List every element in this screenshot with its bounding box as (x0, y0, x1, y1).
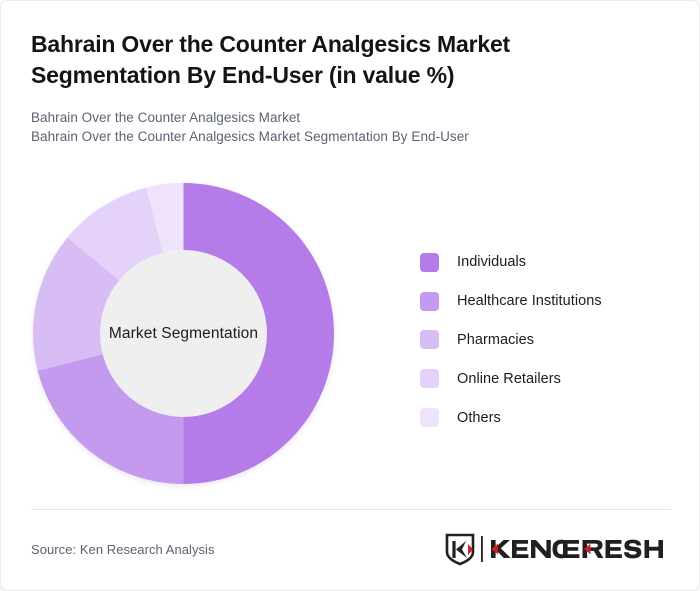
footer-divider (31, 509, 671, 510)
legend-label: Others (457, 410, 501, 426)
ken-research-logo-svg (443, 532, 671, 566)
ken-research-logo (443, 532, 671, 566)
legend-label: Online Retailers (457, 371, 561, 387)
legend-swatch-icon (420, 369, 439, 388)
legend-item[interactable]: Others (420, 398, 670, 437)
chart-area: Market Segmentation IndividualsHealthcar… (1, 171, 700, 501)
card-footer: Source: Ken Research Analysis (31, 529, 671, 569)
source-note: Source: Ken Research Analysis (31, 542, 215, 557)
shield-mark-icon (447, 535, 473, 564)
chart-legend: IndividualsHealthcare InstitutionsPharma… (420, 243, 670, 437)
logo-wordmark (491, 540, 663, 559)
legend-item[interactable]: Pharmacies (420, 321, 670, 360)
legend-item[interactable]: Online Retailers (420, 359, 670, 398)
chart-card: Bahrain Over the Counter Analgesics Mark… (0, 0, 700, 591)
subtitle-line-2: Bahrain Over the Counter Analgesics Mark… (31, 127, 669, 146)
page-title: Bahrain Over the Counter Analgesics Mark… (31, 29, 591, 91)
legend-swatch-icon (420, 408, 439, 427)
legend-label: Healthcare Institutions (457, 293, 602, 309)
donut-chart-svg (33, 183, 334, 484)
donut-chart: Market Segmentation (33, 183, 334, 484)
subtitle-block: Bahrain Over the Counter Analgesics Mark… (31, 108, 669, 146)
donut-center-hole (100, 250, 267, 417)
legend-item[interactable]: Individuals (420, 243, 670, 282)
legend-swatch-icon (420, 253, 439, 272)
legend-swatch-icon (420, 292, 439, 311)
legend-swatch-icon (420, 330, 439, 349)
subtitle-line-1: Bahrain Over the Counter Analgesics Mark… (31, 108, 669, 127)
legend-label: Individuals (457, 254, 526, 270)
legend-item[interactable]: Healthcare Institutions (420, 282, 670, 321)
legend-label: Pharmacies (457, 332, 534, 348)
logo-divider (481, 536, 483, 562)
